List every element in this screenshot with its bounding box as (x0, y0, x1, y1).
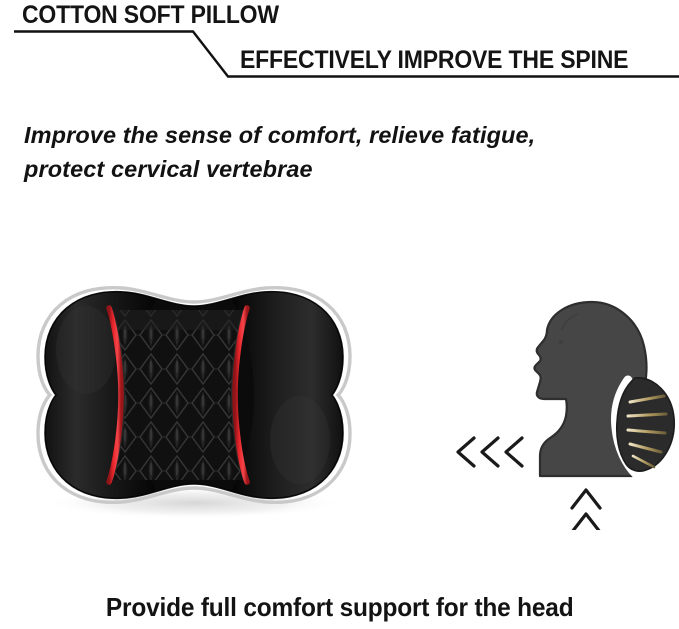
chevrons-up-group (572, 490, 600, 530)
footer-caption: Provide full comfort support for the hea… (0, 592, 679, 623)
chevron-left-2 (482, 438, 498, 466)
chevron-up-2 (572, 514, 600, 530)
support-ray-2 (628, 414, 666, 416)
page-subtitle-headline: EFFECTIVELY IMPROVE THE SPINE (240, 46, 628, 75)
product-image-pillow (8, 250, 378, 540)
product-highlight-left (56, 306, 116, 394)
footer-caption-text: Provide full comfort support for the hea… (106, 592, 574, 623)
product-highlight-right (270, 396, 330, 484)
header-block: COTTON SOFT PILLOW EFFECTIVELY IMPROVE T… (0, 0, 679, 90)
chevron-up-1 (572, 490, 600, 508)
support-pillow (617, 378, 674, 471)
chevron-left-1 (458, 438, 474, 466)
product-infographic-page: COTTON SOFT PILLOW EFFECTIVELY IMPROVE T… (0, 0, 679, 629)
chevrons-left-group (458, 438, 522, 466)
subtitle-line-2: protect cervical vertebrae (24, 152, 664, 186)
subtitle-line-1: Improve the sense of comfort, relieve fa… (24, 118, 664, 152)
usage-illustration (440, 290, 679, 530)
subtitle-block: Improve the sense of comfort, relieve fa… (24, 118, 664, 186)
brow-dot (559, 340, 563, 344)
chevron-left-3 (506, 438, 522, 466)
page-title: COTTON SOFT PILLOW (22, 1, 279, 30)
